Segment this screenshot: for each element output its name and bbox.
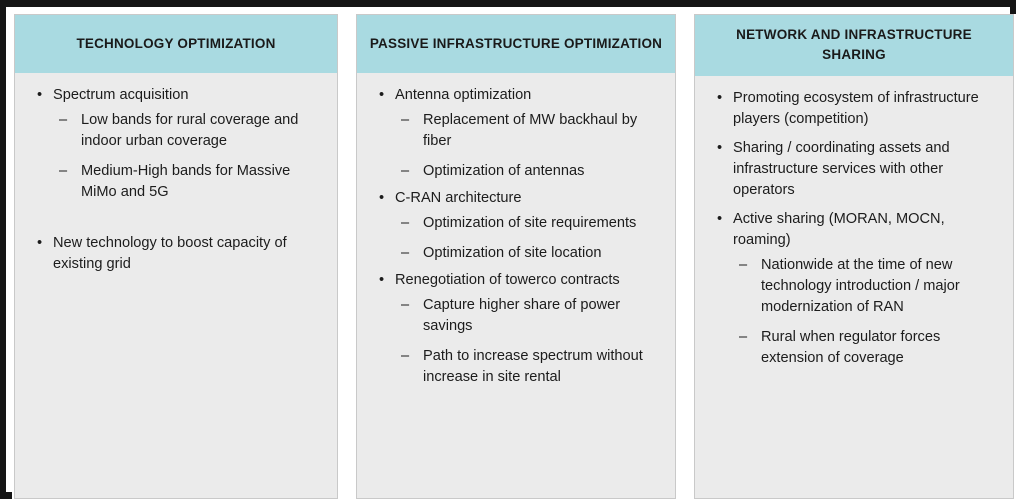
dash-icon: – <box>401 161 409 182</box>
sub-list-item: – Rural when regulator forces extension … <box>733 327 1003 369</box>
bullet-icon: • <box>37 85 42 106</box>
column-3-bullet-list: • Promoting ecosystem of infrastructure … <box>705 88 1003 369</box>
column-2-bullet-list: • Antenna optimization – Replacement of … <box>367 85 665 388</box>
sub-list-item-label: Nationwide at the time of new technology… <box>761 257 960 315</box>
list-item-label: Sharing / coordinating assets and infras… <box>733 140 950 198</box>
sub-list-item-label: Optimization of antennas <box>423 163 584 179</box>
sub-list: – Capture higher share of power savings … <box>395 295 665 388</box>
dash-icon: – <box>739 255 747 276</box>
sub-list-item-label: Optimization of site requirements <box>423 215 636 231</box>
sub-list-item: – Replacement of MW backhaul by fiber <box>395 110 665 152</box>
column-1-bullet-list: • Spectrum acquisition – Low bands for r… <box>25 85 327 275</box>
list-item: • Renegotiation of towerco contracts – C… <box>367 270 665 388</box>
column-2-header: PASSIVE INFRASTRUCTURE OPTIMIZATION <box>357 15 675 73</box>
bullet-icon: • <box>717 209 722 230</box>
column-3-body: • Promoting ecosystem of infrastructure … <box>695 76 1013 498</box>
column-3-header: NETWORK AND INFRASTRUCTURE SHARING <box>695 15 1013 76</box>
sub-list: – Optimization of site requirements – Op… <box>395 213 665 264</box>
dash-icon: – <box>59 161 67 182</box>
sub-list-item: – Medium-High bands for Massive MiMo and… <box>53 161 327 203</box>
slide-frame: TECHNOLOGY OPTIMIZATION • Spectrum acqui… <box>0 0 1016 499</box>
column-passive-infrastructure-optimization: PASSIVE INFRASTRUCTURE OPTIMIZATION • An… <box>356 14 676 499</box>
column-network-and-infrastructure-sharing: NETWORK AND INFRASTRUCTURE SHARING • Pro… <box>694 14 1014 499</box>
bullet-icon: • <box>717 138 722 159</box>
dash-icon: – <box>401 346 409 367</box>
column-1-header: TECHNOLOGY OPTIMIZATION <box>15 15 337 73</box>
sub-list-item: – Nationwide at the time of new technolo… <box>733 255 1003 318</box>
sub-list: – Nationwide at the time of new technolo… <box>733 255 1003 369</box>
sub-list-item: – Low bands for rural coverage and indoo… <box>53 110 327 152</box>
bullet-icon: • <box>379 270 384 291</box>
column-gap <box>338 14 356 499</box>
sub-list-item-label: Low bands for rural coverage and indoor … <box>81 112 298 149</box>
list-item-label: Renegotiation of towerco contracts <box>395 272 620 288</box>
list-item: • Active sharing (MORAN, MOCN, roaming) … <box>705 209 1003 369</box>
sub-list-item: – Optimization of site location <box>395 243 665 264</box>
column-technology-optimization: TECHNOLOGY OPTIMIZATION • Spectrum acqui… <box>14 14 338 499</box>
sub-list-item: – Capture higher share of power savings <box>395 295 665 337</box>
list-item-label: Antenna optimization <box>395 87 531 103</box>
sub-list-item-label: Replacement of MW backhaul by fiber <box>423 112 637 149</box>
list-item-label: Promoting ecosystem of infrastructure pl… <box>733 90 979 127</box>
list-item: • Promoting ecosystem of infrastructure … <box>705 88 1003 130</box>
column-gap <box>676 14 694 499</box>
list-item: • C-RAN architecture – Optimization of s… <box>367 188 665 264</box>
list-item: • New technology to boost capacity of ex… <box>25 233 327 275</box>
list-item-label: Active sharing (MORAN, MOCN, roaming) <box>733 211 945 248</box>
bullet-icon: • <box>717 88 722 109</box>
sub-list-item-label: Rural when regulator forces extension of… <box>761 329 940 366</box>
dash-icon: – <box>739 327 747 348</box>
dash-icon: – <box>59 110 67 131</box>
list-item: • Antenna optimization – Replacement of … <box>367 85 665 182</box>
sub-list-item: – Optimization of site requirements <box>395 213 665 234</box>
sub-list: – Low bands for rural coverage and indoo… <box>53 110 327 203</box>
list-item: • Spectrum acquisition – Low bands for r… <box>25 85 327 203</box>
bullet-icon: • <box>379 85 384 106</box>
sub-list: – Replacement of MW backhaul by fiber – … <box>395 110 665 182</box>
list-item: • Sharing / coordinating assets and infr… <box>705 138 1003 201</box>
sub-list-item-label: Capture higher share of power savings <box>423 297 620 334</box>
sub-list-item-label: Path to increase spectrum without increa… <box>423 348 643 385</box>
bullet-icon: • <box>379 188 384 209</box>
sub-list-item-label: Medium-High bands for Massive MiMo and 5… <box>81 163 290 200</box>
list-item-label: C-RAN architecture <box>395 190 522 206</box>
sub-list-item: – Path to increase spectrum without incr… <box>395 346 665 388</box>
dash-icon: – <box>401 110 409 131</box>
dash-icon: – <box>401 213 409 234</box>
three-column-layout: TECHNOLOGY OPTIMIZATION • Spectrum acqui… <box>12 14 1016 499</box>
sub-list-item: – Optimization of antennas <box>395 161 665 182</box>
list-item-label: Spectrum acquisition <box>53 87 188 103</box>
column-1-body: • Spectrum acquisition – Low bands for r… <box>15 73 337 498</box>
sub-list-item-label: Optimization of site location <box>423 245 601 261</box>
bullet-icon: • <box>37 233 42 254</box>
dash-icon: – <box>401 243 409 264</box>
dash-icon: – <box>401 295 409 316</box>
column-2-body: • Antenna optimization – Replacement of … <box>357 73 675 498</box>
list-item-label: New technology to boost capacity of exis… <box>53 235 287 272</box>
